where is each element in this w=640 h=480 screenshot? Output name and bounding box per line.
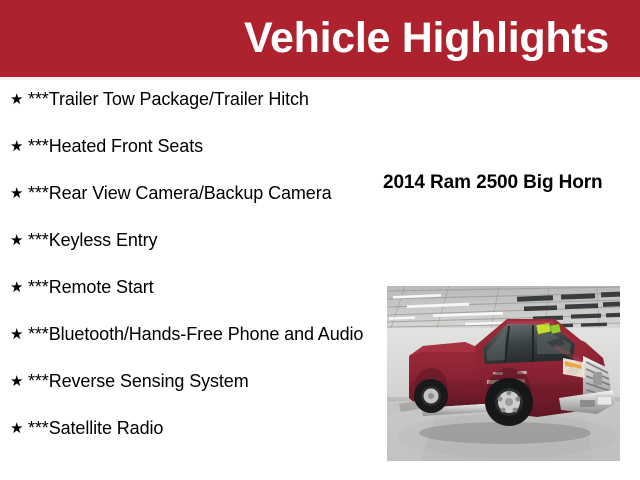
list-item: ★ ***Heated Front Seats	[8, 135, 368, 158]
feature-label: ***Keyless Entry	[28, 229, 368, 252]
header-banner: Vehicle Highlights	[0, 0, 640, 77]
list-item: ★ ***Rear View Camera/Backup Camera	[8, 182, 368, 205]
star-icon: ★	[8, 417, 28, 440]
star-icon: ★	[8, 229, 28, 252]
vehicle-photo-image	[387, 286, 620, 461]
feature-label: ***Trailer Tow Package/Trailer Hitch	[28, 88, 368, 111]
feature-label: ***Rear View Camera/Backup Camera	[28, 182, 368, 205]
feature-label: ***Heated Front Seats	[28, 135, 368, 158]
list-item: ★ ***Satellite Radio	[8, 417, 368, 440]
header-divider	[0, 77, 640, 80]
vehicle-photo	[387, 286, 620, 461]
star-icon: ★	[8, 135, 28, 158]
feature-label: ***Remote Start	[28, 276, 368, 299]
list-item: ★ ***Trailer Tow Package/Trailer Hitch	[8, 88, 368, 111]
star-icon: ★	[8, 88, 28, 111]
list-item: ★ ***Reverse Sensing System	[8, 370, 368, 393]
vehicle-title: 2014 Ram 2500 Big Horn	[383, 172, 603, 194]
star-icon: ★	[8, 323, 28, 346]
vehicle-features-list: ★ ***Trailer Tow Package/Trailer Hitch ★…	[8, 88, 368, 464]
list-item: ★ ***Bluetooth/Hands-Free Phone and Audi…	[8, 323, 368, 346]
feature-label: ***Satellite Radio	[28, 417, 368, 440]
star-icon: ★	[8, 276, 28, 299]
star-icon: ★	[8, 182, 28, 205]
list-item: ★ ***Keyless Entry	[8, 229, 368, 252]
star-icon: ★	[8, 370, 28, 393]
list-item: ★ ***Remote Start	[8, 276, 368, 299]
page-title: Vehicle Highlights	[244, 17, 609, 60]
feature-label: ***Reverse Sensing System	[28, 370, 368, 393]
feature-label: ***Bluetooth/Hands-Free Phone and Audio	[28, 323, 368, 346]
